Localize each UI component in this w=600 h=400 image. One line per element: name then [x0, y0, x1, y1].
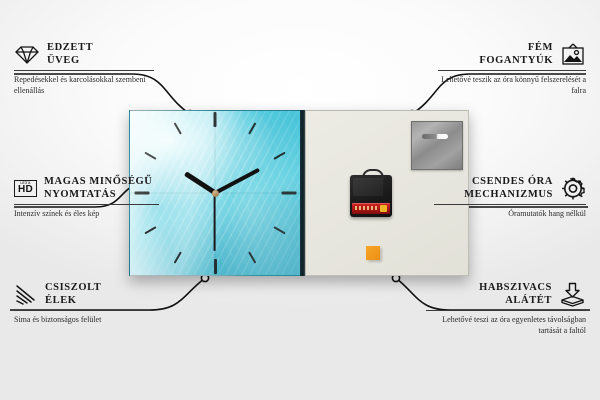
feature-description: Óramutatók hang nélkül: [434, 209, 586, 220]
feature-foam-pad: HABSZIVACS ALÁTÉT Lehetővé teszi az óra …: [426, 282, 586, 336]
feature-description: Repedésekkel és karcolásokkal szembeni e…: [14, 75, 154, 96]
metal-hanger: [411, 121, 463, 170]
battery: [352, 203, 390, 214]
foam-spacer-pad: [366, 246, 380, 260]
infographic-canvas: EDZETT ÜVEG Repedésekkel és karcolásokka…: [0, 0, 600, 400]
feature-tempered-glass: EDZETT ÜVEG Repedésekkel és karcolásokka…: [14, 42, 154, 96]
feature-title-line2: MECHANIZMUS: [464, 189, 553, 202]
quartz-mechanism: [350, 175, 392, 217]
feature-title-line1: FÉM: [479, 42, 553, 55]
feature-description: Sima és biztonságos felület: [14, 315, 154, 326]
feature-title-line2: ALÁTÉT: [479, 295, 552, 308]
divider: [14, 70, 154, 71]
battery-plus-terminal: [380, 205, 387, 212]
divider: [438, 70, 586, 71]
feature-silent-mechanism: CSENDES ÓRA MECHANIZMUS Óramutatók hang …: [434, 176, 586, 220]
feature-title-line1: HABSZIVACS: [479, 282, 552, 295]
diamond-icon: [14, 45, 40, 65]
feature-description: Lehetővé teszi az óra egyenletes távolsá…: [426, 315, 586, 336]
arrow-down-pad-icon: [559, 282, 586, 307]
feature-title-line2: FOGANTYÚK: [479, 55, 553, 68]
feature-high-quality-print: ultra HD MAGAS MINŐSÉGŰ NYOMTATÁS Intenz…: [14, 176, 159, 220]
polished-edge-icon: [14, 284, 38, 306]
hanger-slot: [422, 134, 448, 139]
feature-description: Intenzív színek és éles kép: [14, 209, 159, 220]
feature-polished-edges: CSISZOLT ÉLEK Sima és biztonságos felüle…: [14, 282, 154, 326]
gear-icon: [560, 176, 586, 201]
feature-title-line1: CSENDES ÓRA: [464, 176, 553, 189]
ultra-hd-icon: ultra HD: [14, 180, 37, 198]
divider: [426, 310, 586, 311]
feature-title-line2: NYOMTATÁS: [44, 189, 152, 202]
ultra-hd-icon-large-text: HD: [18, 185, 33, 195]
picture-frame-hanging-icon: [560, 43, 586, 67]
mechanism-body: [353, 178, 383, 196]
product-image: [129, 110, 469, 276]
divider: [434, 204, 586, 205]
feature-title-line2: ÉLEK: [45, 295, 101, 308]
feature-description: Lehetővé teszik az óra könnyű felszerelé…: [438, 75, 586, 96]
feature-title-line1: EDZETT: [47, 42, 93, 55]
feature-title-line2: ÜVEG: [47, 55, 93, 68]
divider: [14, 204, 159, 205]
battery-label: [355, 206, 377, 210]
divider: [14, 310, 154, 311]
feature-metal-handles: FÉM FOGANTYÚK Lehetővé teszik az óra kön…: [438, 42, 586, 96]
feature-title-line1: CSISZOLT: [45, 282, 101, 295]
feature-title-line1: MAGAS MINŐSÉGŰ: [44, 176, 152, 189]
